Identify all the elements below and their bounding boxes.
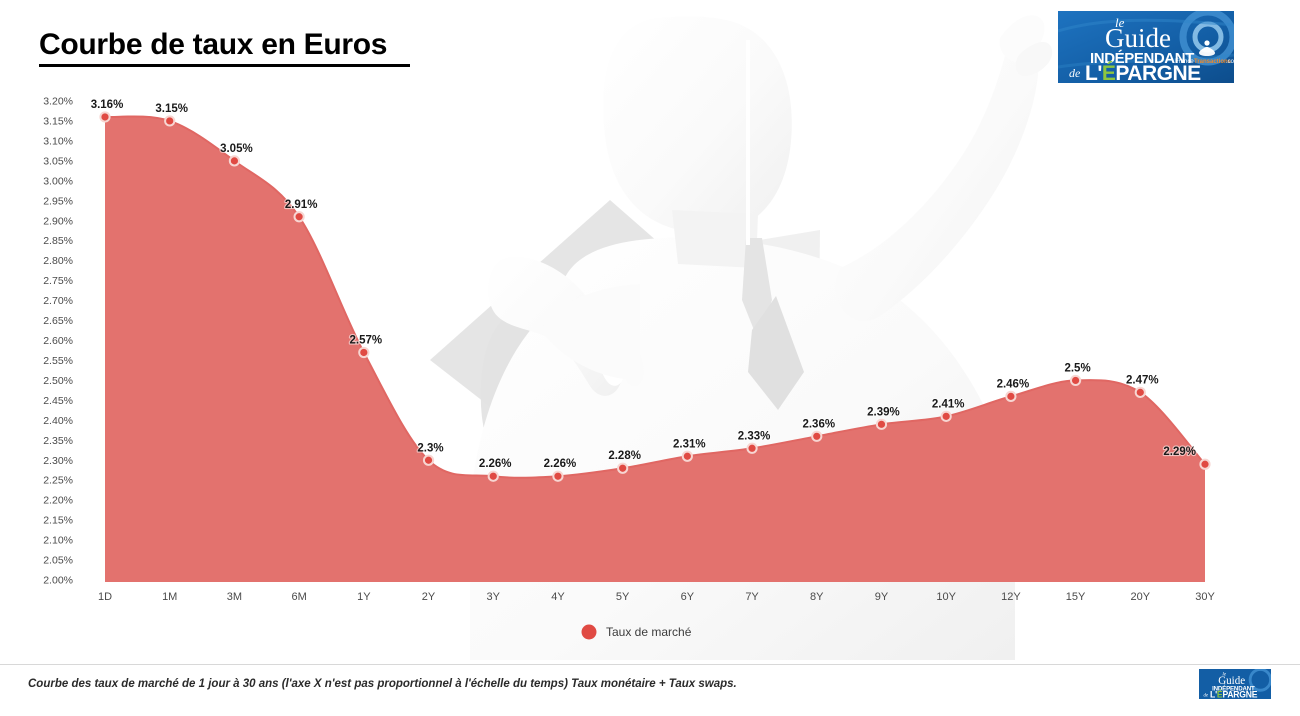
legend-label: Taux de marché xyxy=(606,625,692,639)
data-point-label: 2.39% xyxy=(867,406,900,418)
x-axis-tick-label: 12Y xyxy=(1001,591,1021,603)
legend-marker-icon xyxy=(582,625,597,640)
page-title: Courbe de taux en Euros xyxy=(39,28,387,62)
data-point-label: 2.91% xyxy=(285,199,318,211)
data-point-label: 2.46% xyxy=(997,378,1030,390)
x-axis-tick-label: 3M xyxy=(227,591,242,603)
footer-divider xyxy=(0,664,1300,665)
svg-text:de: de xyxy=(1069,66,1081,80)
x-axis-tick-label: 6Y xyxy=(681,591,695,603)
guide-epargne-logo-mini[interactable]: le Guide INDÉPENDANT de L'ÉPARGNE xyxy=(1199,669,1271,699)
x-axis-tick-labels: 1D1M3M6M1Y2Y3Y4Y5Y6Y7Y8Y9Y10Y12Y15Y20Y30… xyxy=(98,591,1215,603)
y-axis-tick-label: 3.15% xyxy=(43,115,73,127)
x-axis-tick-label: 2Y xyxy=(422,591,436,603)
data-point-label: 2.26% xyxy=(479,458,512,470)
data-point-label: 2.41% xyxy=(932,398,965,410)
data-point-marker[interactable] xyxy=(424,456,433,465)
y-axis-tick-label: 2.35% xyxy=(43,435,73,447)
x-axis-tick-label: 1Y xyxy=(357,591,371,603)
y-axis-tick-label: 2.00% xyxy=(43,575,73,587)
y-axis-tick-label: 2.30% xyxy=(43,455,73,467)
y-axis-tick-label: 2.80% xyxy=(43,255,73,267)
data-point-label: 3.16% xyxy=(91,99,124,111)
data-point-label: 2.57% xyxy=(350,334,383,346)
data-point-label: 3.05% xyxy=(220,143,253,155)
data-point-marker[interactable] xyxy=(618,464,627,473)
data-point-label: 2.29% xyxy=(1163,446,1196,458)
data-point-label: 2.47% xyxy=(1126,374,1159,386)
data-point-marker[interactable] xyxy=(812,432,821,441)
data-point-marker[interactable] xyxy=(877,420,886,429)
x-axis-tick-label: 9Y xyxy=(875,591,889,603)
logo-mini-artwork: le Guide INDÉPENDANT de L'ÉPARGNE xyxy=(1199,669,1271,699)
y-axis-tick-label: 2.40% xyxy=(43,415,73,427)
chart-page: % xyxy=(0,0,1300,716)
x-axis-tick-label: 15Y xyxy=(1066,591,1086,603)
data-point-label: 2.5% xyxy=(1064,362,1090,374)
data-point-label: 2.36% xyxy=(802,418,835,430)
y-axis-tick-labels: 3.20%3.15%3.10%3.05%3.00%2.95%2.90%2.85%… xyxy=(43,96,73,587)
data-point-marker[interactable] xyxy=(230,156,239,165)
y-axis-tick-label: 2.90% xyxy=(43,215,73,227)
svg-text:L'ÉPARGNE: L'ÉPARGNE xyxy=(1210,690,1258,699)
y-axis-tick-label: 2.95% xyxy=(43,195,73,207)
x-axis-tick-label: 4Y xyxy=(551,591,565,603)
y-axis-tick-label: 3.00% xyxy=(43,175,73,187)
data-point-marker[interactable] xyxy=(683,452,692,461)
svg-text:France: France xyxy=(1175,59,1194,65)
x-axis-tick-label: 10Y xyxy=(936,591,956,603)
data-point-marker[interactable] xyxy=(489,472,498,481)
data-point-marker[interactable] xyxy=(1071,376,1080,385)
x-axis-tick-label: 8Y xyxy=(810,591,824,603)
data-point-marker[interactable] xyxy=(1006,392,1015,401)
x-axis-tick-label: 5Y xyxy=(616,591,630,603)
svg-text:L'ÉPARGNE: L'ÉPARGNE xyxy=(1085,62,1201,83)
x-axis-tick-label: 1M xyxy=(162,591,177,603)
y-axis-tick-label: 2.20% xyxy=(43,495,73,507)
y-axis-tick-label: 2.75% xyxy=(43,275,73,287)
data-point-marker[interactable] xyxy=(1136,388,1145,397)
data-point-marker[interactable] xyxy=(295,212,304,221)
x-axis-tick-label: 6M xyxy=(291,591,306,603)
footer-note: Courbe des taux de marché de 1 jour à 30… xyxy=(28,678,737,690)
y-axis-tick-label: 2.10% xyxy=(43,535,73,547)
data-point-marker[interactable] xyxy=(1200,460,1209,469)
y-axis-tick-label: 2.70% xyxy=(43,295,73,307)
svg-text:de: de xyxy=(1204,693,1209,698)
x-axis-tick-label: 7Y xyxy=(745,591,759,603)
guide-epargne-logo[interactable]: le Guide INDÉPENDANT de L'ÉPARGNE France… xyxy=(1058,11,1234,83)
data-point-marker[interactable] xyxy=(165,116,174,125)
x-axis-tick-label: 30Y xyxy=(1195,591,1215,603)
logo-artwork: le Guide INDÉPENDANT de L'ÉPARGNE France… xyxy=(1058,11,1234,83)
y-axis-tick-label: 3.05% xyxy=(43,155,73,167)
y-axis-tick-label: 2.25% xyxy=(43,475,73,487)
chart-legend[interactable]: Taux de marché xyxy=(582,625,692,640)
svg-text:.com: .com xyxy=(1226,59,1234,65)
data-point-marker[interactable] xyxy=(359,348,368,357)
y-axis-tick-label: 3.20% xyxy=(43,96,73,108)
title-underline xyxy=(39,64,410,67)
y-axis-tick-label: 2.65% xyxy=(43,315,73,327)
y-axis-tick-label: 3.10% xyxy=(43,135,73,147)
data-point-label: 2.3% xyxy=(417,442,443,454)
x-axis-tick-label: 1D xyxy=(98,591,112,603)
y-axis-tick-label: 2.85% xyxy=(43,235,73,247)
data-point-marker[interactable] xyxy=(100,112,109,121)
data-point-marker[interactable] xyxy=(942,412,951,421)
data-point-marker[interactable] xyxy=(747,444,756,453)
x-axis-tick-label: 20Y xyxy=(1131,591,1151,603)
data-point-marker[interactable] xyxy=(553,472,562,481)
y-axis-tick-label: 2.55% xyxy=(43,355,73,367)
data-point-label: 2.28% xyxy=(608,450,641,462)
data-point-label: 2.31% xyxy=(673,438,706,450)
y-axis-tick-label: 2.15% xyxy=(43,515,73,527)
svg-text:Guide: Guide xyxy=(1105,23,1171,53)
data-point-label: 2.33% xyxy=(738,430,771,442)
y-axis-tick-label: 2.05% xyxy=(43,555,73,567)
y-axis-tick-label: 2.60% xyxy=(43,335,73,347)
y-axis-tick-label: 2.45% xyxy=(43,395,73,407)
y-axis-tick-label: 2.50% xyxy=(43,375,73,387)
rate-curve-chart: 3.20%3.15%3.10%3.05%3.00%2.95%2.90%2.85%… xyxy=(0,0,1300,660)
data-point-label: 3.15% xyxy=(155,103,188,115)
area-fill xyxy=(105,116,1205,584)
x-axis-tick-label: 3Y xyxy=(487,591,501,603)
data-point-label: 2.26% xyxy=(544,458,577,470)
